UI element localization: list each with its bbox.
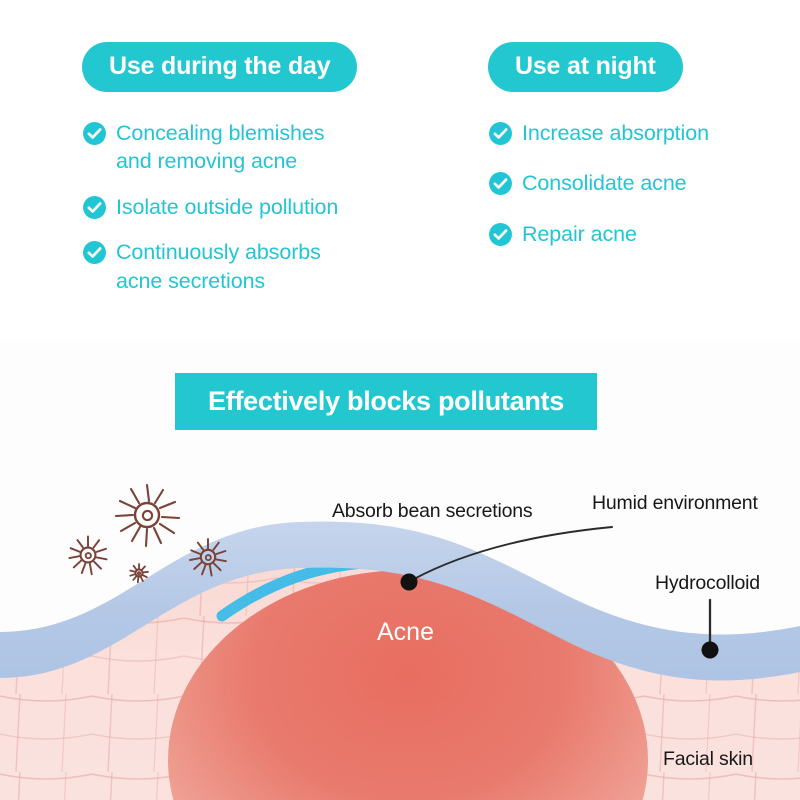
night-pill-heading: Use at night	[488, 42, 683, 92]
label-facial-skin: Facial skin	[663, 748, 753, 771]
banner-title: Effectively blocks pollutants	[208, 386, 564, 417]
feature-label: Increase absorption	[522, 119, 709, 147]
list-item: Repair acne	[488, 220, 798, 248]
day-usage-column: Use during the day Concealing blemishes …	[82, 42, 442, 312]
list-item: Increase absorption	[488, 119, 798, 147]
night-usage-column: Use at night Increase absorption Consoli…	[488, 42, 798, 270]
feature-label: Repair acne	[522, 220, 637, 248]
day-feature-list: Concealing blemishes and removing acne I…	[82, 119, 442, 295]
check-circle-icon	[488, 171, 513, 196]
label-acne: Acne	[377, 618, 434, 647]
night-feature-list: Increase absorption Consolidate acne Rep…	[488, 119, 798, 248]
feature-label: Concealing blemishes and removing acne	[116, 119, 324, 176]
day-pill-heading: Use during the day	[82, 42, 357, 92]
list-item: Isolate outside pollution	[82, 193, 442, 221]
list-item: Consolidate acne	[488, 169, 798, 197]
list-item: Continuously absorbs acne secretions	[82, 238, 442, 295]
check-circle-icon	[82, 195, 107, 220]
label-absorb-bean-secretions: Absorb bean secretions	[332, 500, 532, 523]
infographic-page: Use during the day Concealing blemishes …	[0, 0, 800, 800]
check-circle-icon	[488, 222, 513, 247]
callout-dot-icon	[702, 642, 719, 659]
list-item: Concealing blemishes and removing acne	[82, 119, 442, 176]
label-hydrocolloid: Hydrocolloid	[655, 572, 760, 595]
feature-label: Consolidate acne	[522, 169, 687, 197]
label-humid-environment: Humid environment	[592, 492, 758, 515]
leader-line-hydrocolloid	[702, 600, 719, 659]
check-circle-icon	[82, 240, 107, 265]
check-circle-icon	[82, 121, 107, 146]
pollutant-banner: Effectively blocks pollutants	[175, 373, 597, 430]
usage-section: Use during the day Concealing blemishes …	[0, 0, 800, 340]
check-circle-icon	[488, 121, 513, 146]
callout-dot-icon	[401, 574, 418, 591]
feature-label: Continuously absorbs acne secretions	[116, 238, 321, 295]
feature-label: Isolate outside pollution	[116, 193, 338, 221]
skin-cross-section-diagram: Absorb bean secretions Humid environment…	[0, 460, 800, 800]
banner-section: Effectively blocks pollutants	[0, 340, 800, 460]
